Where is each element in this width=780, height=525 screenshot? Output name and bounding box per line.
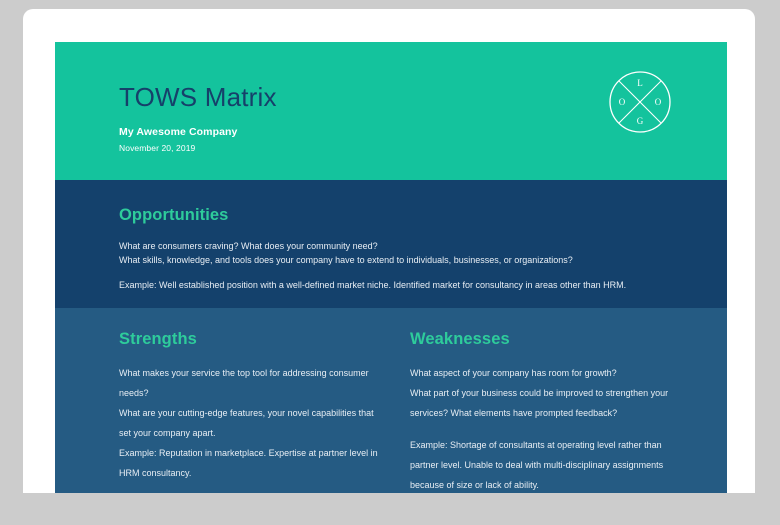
logo-letter-left: O — [619, 97, 626, 107]
document-header: TOWS Matrix My Awesome Company November … — [55, 42, 727, 180]
strengths-heading: Strengths — [119, 330, 380, 349]
section-weaknesses: Weaknesses What aspect of your company h… — [410, 330, 671, 493]
logo-letter-right: O — [655, 97, 662, 107]
document-date: November 20, 2019 — [119, 143, 195, 153]
document-page: TOWS Matrix My Awesome Company November … — [23, 9, 755, 493]
weaknesses-line-1: What aspect of your company has room for… — [410, 363, 671, 383]
spacer — [410, 423, 671, 435]
strengths-example: Example: Reputation in marketplace. Expe… — [119, 443, 380, 483]
opportunities-heading: Opportunities — [119, 206, 663, 225]
weaknesses-heading: Weaknesses — [410, 330, 671, 349]
logo-letter-bottom: G — [637, 116, 644, 126]
logo-circle-x-icon: L O O G — [607, 69, 673, 135]
opportunities-example: Example: Well established position with … — [119, 278, 663, 292]
page-title: TOWS Matrix — [119, 82, 277, 113]
weaknesses-line-2: What part of your business could be impr… — [410, 383, 671, 423]
section-strengths: Strengths What makes your service the to… — [119, 330, 380, 493]
strengths-line-2: What are your cutting-edge features, you… — [119, 403, 380, 443]
company-name: My Awesome Company — [119, 126, 238, 138]
opportunities-line-1: What are consumers craving? What does yo… — [119, 239, 663, 253]
strengths-line-1: What makes your service the top tool for… — [119, 363, 380, 403]
spacer — [119, 267, 663, 278]
section-strengths-weaknesses: Strengths What makes your service the to… — [55, 308, 727, 493]
opportunities-line-2: What skills, knowledge, and tools does y… — [119, 253, 663, 267]
logo-letter-top: L — [637, 78, 643, 88]
weaknesses-example: Example: Shortage of consultants at oper… — [410, 435, 671, 493]
tows-matrix-document: TOWS Matrix My Awesome Company November … — [55, 42, 727, 493]
section-opportunities: Opportunities What are consumers craving… — [55, 180, 727, 308]
